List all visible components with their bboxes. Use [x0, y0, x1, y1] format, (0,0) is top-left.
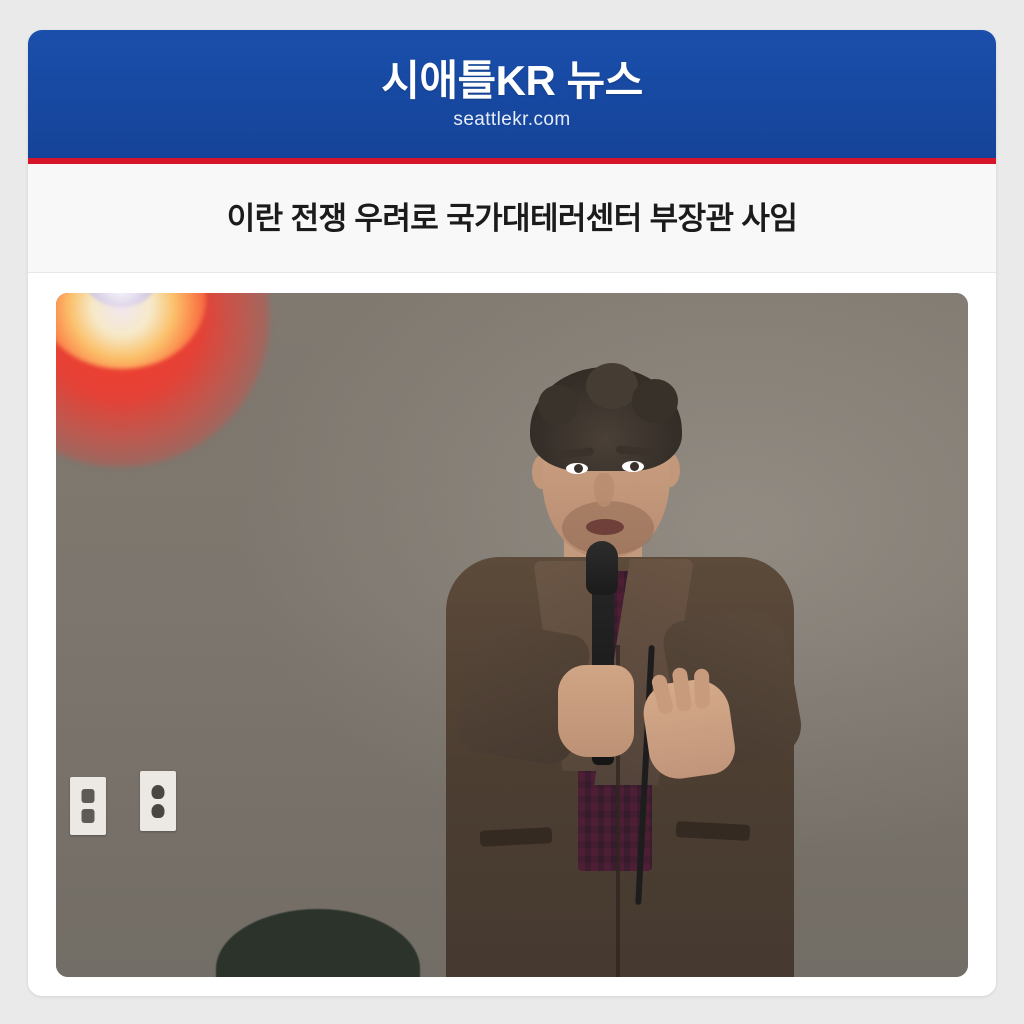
- wall-outlet-right: [140, 771, 176, 831]
- speaker-pupil-left: [574, 464, 583, 473]
- speaker-figure: [436, 345, 816, 977]
- wall-outlet-left: [70, 777, 106, 835]
- outlet-slot: [152, 804, 165, 818]
- headline-band: 이란 전쟁 우려로 국가대테러센터 부장관 사임: [28, 164, 996, 273]
- hair-curl: [538, 385, 578, 425]
- speaker-hand-holding-mic: [558, 665, 634, 757]
- article-media-area: [28, 273, 996, 996]
- article-headline: 이란 전쟁 우려로 국가대테러센터 부장관 사임: [72, 198, 952, 240]
- outlet-slot: [82, 789, 95, 803]
- page-root: 시애틀KR 뉴스 seattlekr.com 이란 전쟁 우려로 국가대테러센터…: [0, 0, 1024, 1024]
- hair-curl: [586, 363, 638, 409]
- outlet-slot: [82, 809, 95, 823]
- news-card: 시애틀KR 뉴스 seattlekr.com 이란 전쟁 우려로 국가대테러센터…: [28, 30, 996, 996]
- speaker-nose: [594, 473, 614, 507]
- site-masthead: 시애틀KR 뉴스 seattlekr.com: [28, 30, 996, 158]
- speaker-pupil-right: [630, 462, 639, 471]
- finger: [694, 668, 710, 708]
- site-brand-url: seattlekr.com: [453, 110, 570, 129]
- article-photo: [56, 293, 968, 977]
- outlet-slot: [152, 785, 165, 799]
- microphone-icon: [586, 541, 618, 595]
- site-brand-title: 시애틀KR 뉴스: [381, 59, 643, 103]
- hair-curl: [632, 379, 678, 423]
- speaker-mouth: [586, 519, 624, 535]
